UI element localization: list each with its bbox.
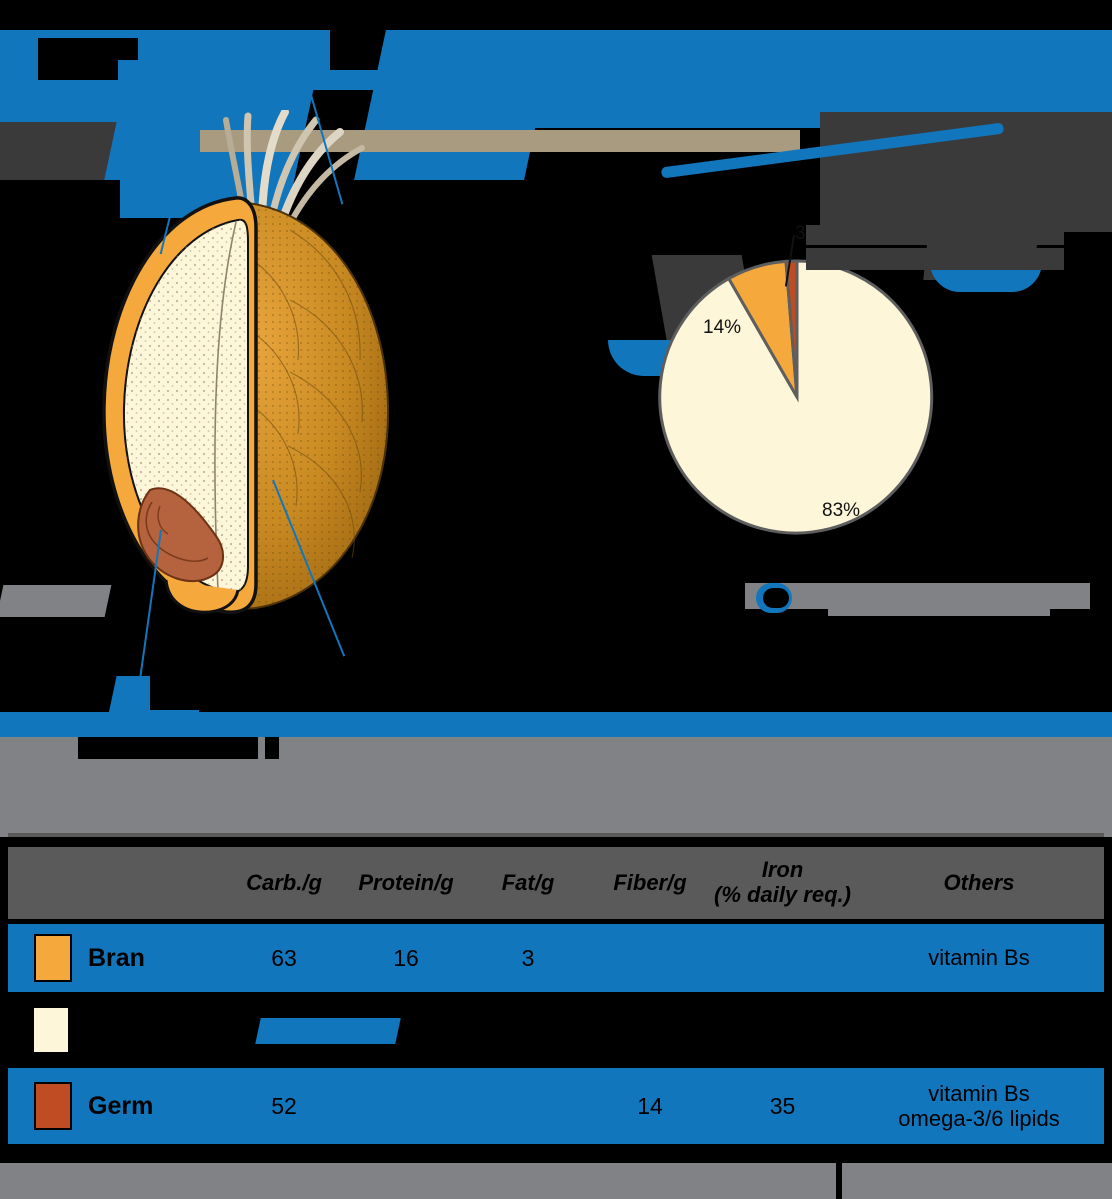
header-iron-line1: Iron — [711, 858, 854, 883]
header-fat: Fat/g — [467, 871, 589, 896]
row-bran-fat: 3 — [467, 945, 589, 972]
table-row[interactable]: Bran 63 16 3 vitamin Bs — [8, 922, 1104, 994]
body-paragraph-gap-b — [265, 737, 279, 759]
row-endosperm-value-mask — [255, 1018, 401, 1044]
row-germ-carb: 52 — [223, 1093, 345, 1120]
pie-label-bran: 14% — [703, 317, 741, 339]
header-iron-line2: (% daily req.) — [711, 883, 854, 908]
row-endosperm-name-cell — [8, 1008, 223, 1052]
pie-germ-label-mask-b — [806, 248, 1064, 270]
table-row[interactable]: Germ 52 14 35 vitamin Bs omega-3/6 lipid… — [8, 1066, 1104, 1146]
table-header-row: Carb./g Protein/g Fat/g Fiber/g Iron (% … — [8, 845, 1104, 922]
pie-caption-pill-hole — [763, 588, 789, 608]
row-bran-name-cell: Bran — [8, 934, 223, 982]
nutrition-table: Carb./g Protein/g Fat/g Fiber/g Iron (% … — [8, 845, 1104, 1146]
kernel-composition-pie-chart: 14% 83% 3% — [655, 255, 940, 540]
row-germ-others-line2: omega-3/6 lipids — [854, 1106, 1104, 1131]
germ-color-swatch — [34, 1082, 72, 1130]
row-bran-protein: 16 — [345, 945, 467, 972]
row-germ-others: vitamin Bs omega-3/6 lipids — [854, 1081, 1104, 1132]
pie-germ-label-mask-a — [806, 225, 1064, 245]
header-carb: Carb./g — [223, 871, 345, 896]
body-paragraph-gap-a — [78, 737, 258, 759]
bran-color-swatch — [34, 934, 72, 982]
wheat-kernel-illustration — [40, 110, 420, 630]
row-bran-carb: 63 — [223, 945, 345, 972]
header-protein: Protein/g — [345, 871, 467, 896]
header-fiber: Fiber/g — [589, 871, 711, 896]
row-germ-name-cell: Germ — [8, 1082, 223, 1130]
footer-caption-gap — [836, 1163, 842, 1199]
kernel-caption-mask — [0, 585, 111, 617]
table-row[interactable] — [8, 994, 1104, 1066]
title-text-gap-1 — [38, 38, 138, 60]
header-iron: Iron (% daily req.) — [711, 858, 854, 907]
row-germ-fiber: 14 — [589, 1093, 711, 1120]
row-germ-iron: 35 — [711, 1093, 854, 1120]
row-label: Bran — [88, 944, 145, 973]
footer-caption-mask — [0, 1163, 1112, 1199]
pie-label-endosperm: 83% — [822, 500, 860, 522]
endosperm-color-swatch — [34, 1008, 68, 1052]
section-heading-notch — [150, 676, 310, 710]
header-others: Others — [854, 871, 1104, 896]
row-bran-others: vitamin Bs — [854, 945, 1104, 970]
pie-caption-mask-2 — [828, 604, 1050, 616]
row-label: Germ — [88, 1092, 153, 1121]
title-text-gap-2 — [38, 60, 118, 80]
row-germ-others-line1: vitamin Bs — [854, 1081, 1104, 1106]
body-paragraph-underline — [8, 833, 1104, 837]
